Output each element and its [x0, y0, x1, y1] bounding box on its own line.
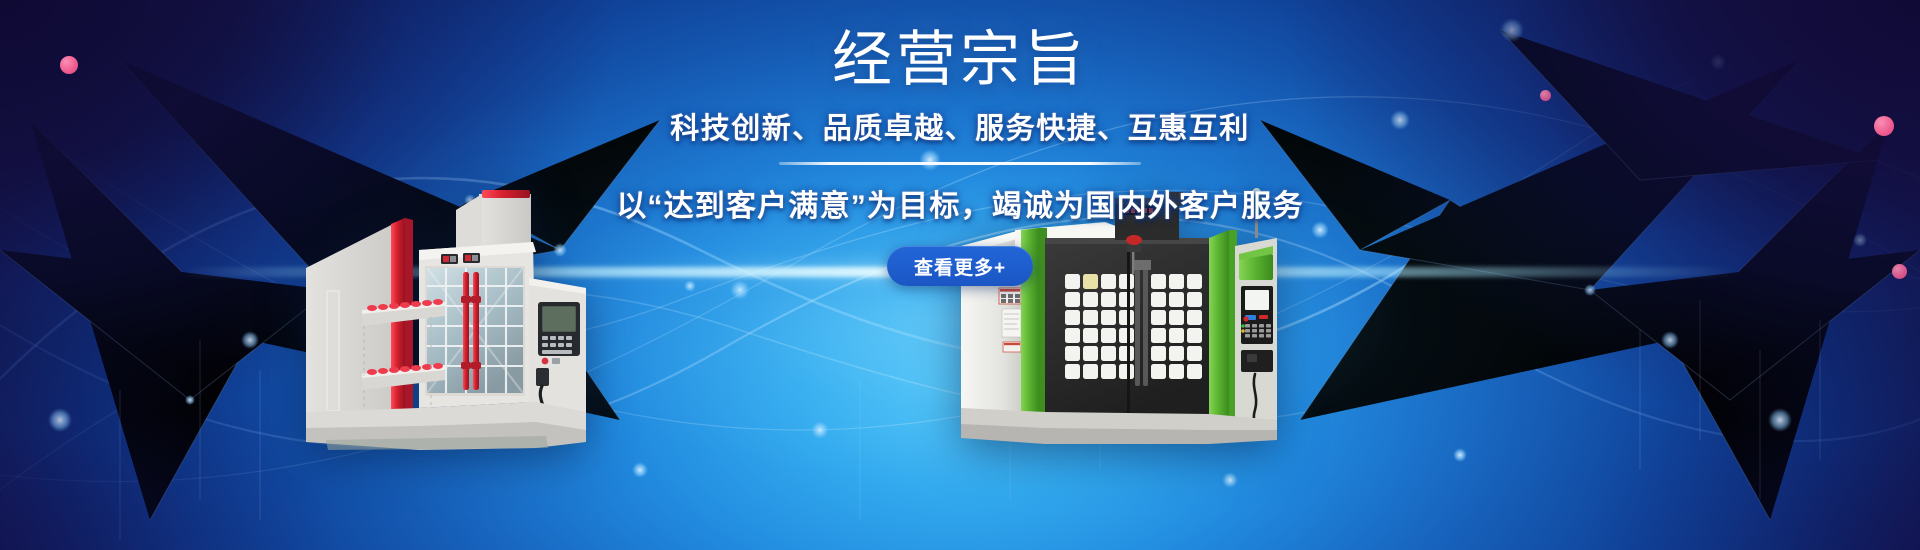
accent-dot: [1874, 116, 1894, 136]
banner-tagline: 以“达到客户满意”为目标，竭诚为国内外客户服务: [616, 181, 1304, 225]
accent-dot: [1540, 90, 1551, 101]
banner-subheadline: 科技创新、品质卓越、服务快捷、互惠互利: [670, 105, 1250, 147]
accent-dot: [60, 56, 78, 74]
accent-dot: [1892, 264, 1907, 279]
view-more-button[interactable]: 查看更多+: [887, 246, 1033, 286]
page-title: 经营宗旨: [832, 28, 1088, 91]
text-divider-rule: [779, 162, 1141, 165]
promo-banner: 经营宗旨 科技创新、品质卓越、服务快捷、互惠互利 以“达到客户满意”为目标，竭诚…: [0, 0, 1920, 550]
corner-vignette-bottom-right: [1580, 330, 1920, 550]
machine-image-left: [286, 150, 606, 450]
